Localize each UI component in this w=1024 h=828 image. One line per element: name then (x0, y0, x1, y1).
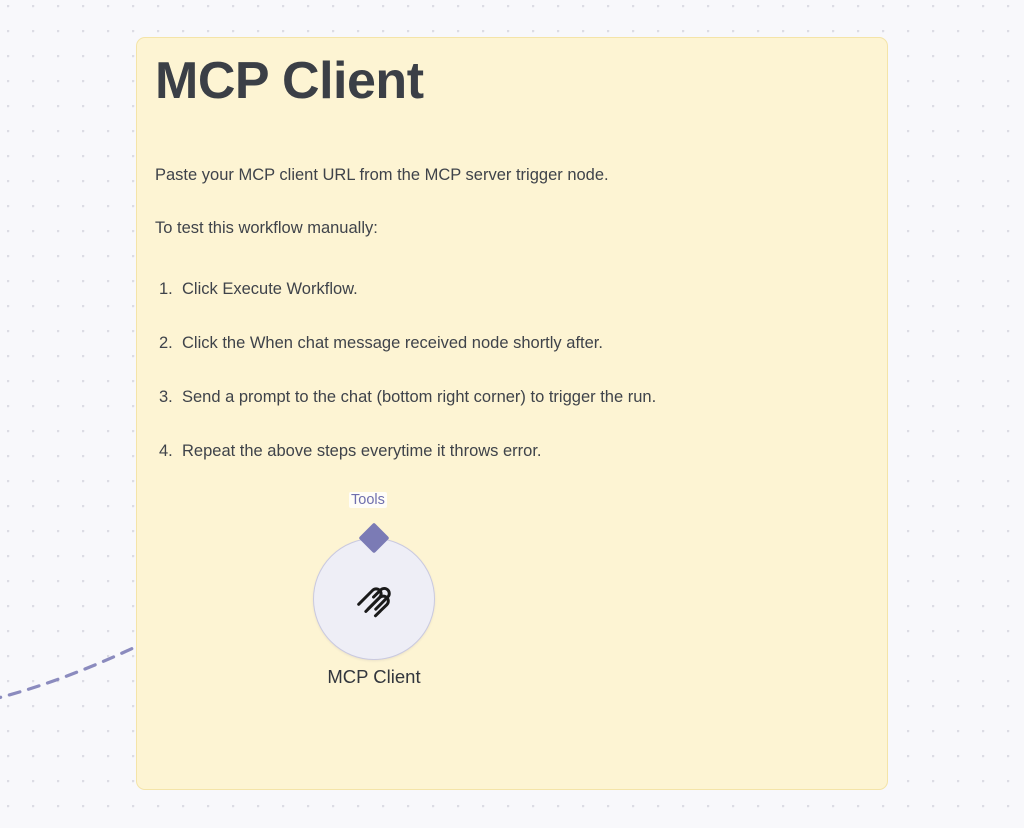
note-paragraph-2: To test this workflow manually: (155, 219, 378, 238)
connection-label-tools[interactable]: Tools (349, 492, 387, 508)
list-item: 2. Click the When chat message received … (159, 334, 859, 388)
note-title: MCP Client (155, 51, 424, 111)
list-item-number: 2. (159, 334, 181, 353)
list-item-number: 3. (159, 388, 181, 407)
mcp-logo-icon (351, 576, 397, 622)
list-item: 3. Send a prompt to the chat (bottom rig… (159, 388, 859, 442)
sticky-note[interactable]: MCP Client Paste your MCP client URL fro… (136, 37, 888, 790)
workflow-canvas[interactable]: MCP Client Paste your MCP client URL fro… (0, 0, 1024, 828)
node-label: MCP Client (327, 666, 420, 688)
node-circle[interactable] (313, 538, 435, 660)
list-item-text: Click the When chat message received nod… (182, 334, 603, 353)
note-step-list: 1. Click Execute Workflow. 2. Click the … (159, 280, 859, 496)
list-item-text: Send a prompt to the chat (bottom right … (182, 388, 656, 407)
list-item-number: 4. (159, 442, 181, 461)
note-paragraph-1: Paste your MCP client URL from the MCP s… (155, 166, 609, 185)
list-item-text: Repeat the above steps everytime it thro… (182, 442, 542, 461)
list-item-number: 1. (159, 280, 181, 299)
list-item: 4. Repeat the above steps everytime it t… (159, 442, 859, 496)
list-item-text: Click Execute Workflow. (182, 280, 358, 299)
list-item: 1. Click Execute Workflow. (159, 280, 859, 334)
node-mcp-client[interactable]: MCP Client (313, 538, 435, 660)
